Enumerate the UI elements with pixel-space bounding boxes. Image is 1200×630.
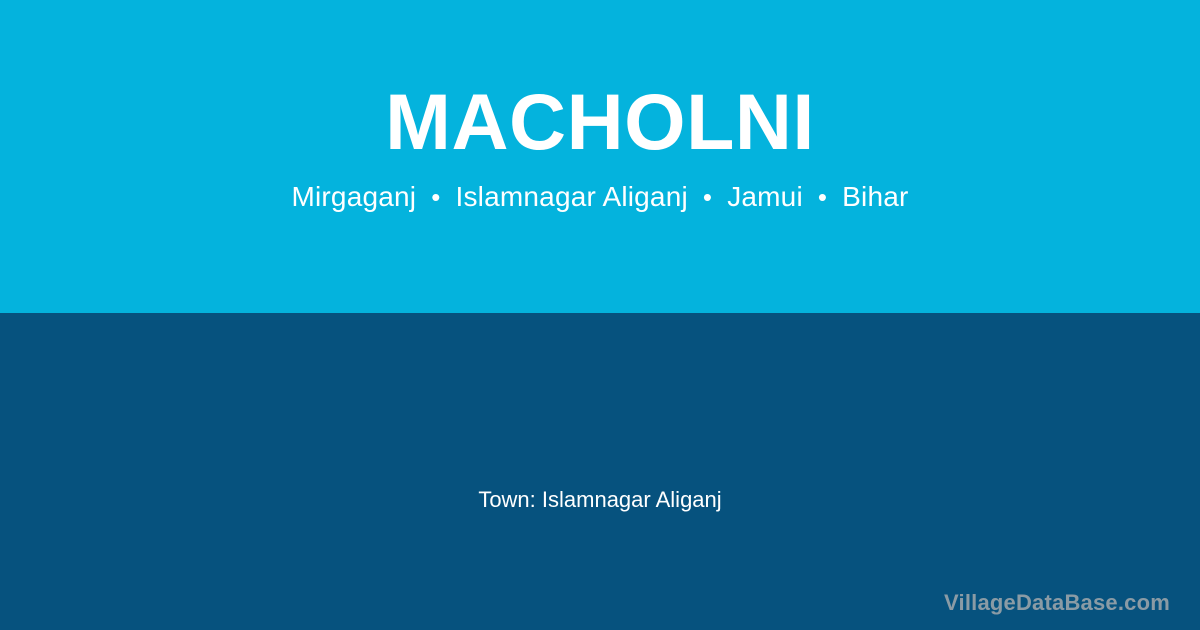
- page-title: MACHOLNI: [385, 82, 815, 161]
- bullet-separator-icon: •: [424, 182, 447, 213]
- bullet-separator-icon: •: [811, 182, 834, 213]
- breadcrumb: Mirgaganj • Islamnagar Aliganj • Jamui •…: [291, 180, 908, 214]
- town-detail-text: Town: Islamnagar Aliganj: [0, 487, 1200, 513]
- breadcrumb-district: Jamui: [727, 181, 803, 212]
- site-watermark: VillageDataBase.com: [944, 590, 1170, 616]
- breadcrumb-state: Bihar: [842, 181, 908, 212]
- breadcrumb-town: Islamnagar Aliganj: [456, 181, 688, 212]
- village-info-card: MACHOLNI Mirgaganj • Islamnagar Aliganj …: [0, 0, 1200, 630]
- details-section: Town: Islamnagar Aliganj VillageDataBase…: [0, 313, 1200, 630]
- hero-banner: MACHOLNI Mirgaganj • Islamnagar Aliganj …: [0, 0, 1200, 313]
- bullet-separator-icon: •: [696, 182, 719, 213]
- breadcrumb-village: Mirgaganj: [291, 181, 416, 212]
